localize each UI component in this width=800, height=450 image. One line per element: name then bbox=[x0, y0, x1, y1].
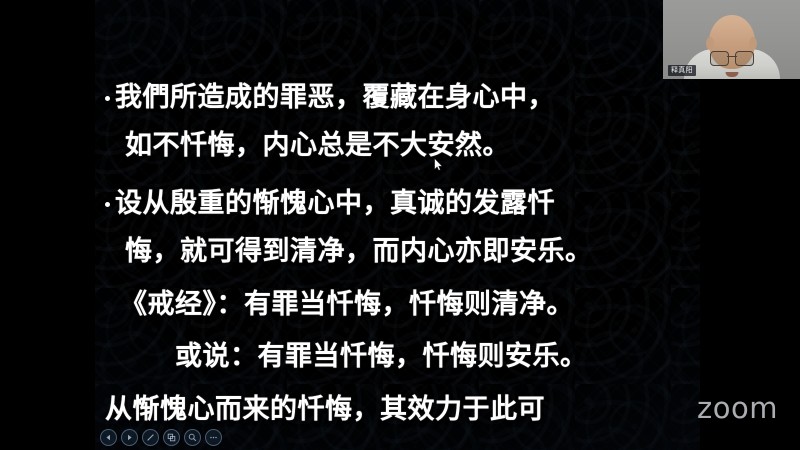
glasses-lens-right bbox=[735, 51, 754, 66]
slide-overview-button[interactable] bbox=[163, 429, 180, 446]
participant-video-thumbnail[interactable]: 释真阳 bbox=[663, 0, 800, 79]
slide-closing-line: 从惭愧心而来的忏悔，其效力于此可 bbox=[105, 396, 545, 423]
zoom-magnifier-button[interactable] bbox=[184, 429, 201, 446]
slide-quote-line-1: 《戒经》：有罪当忏悔，忏悔则清净。 bbox=[120, 291, 574, 318]
participant-name-label: 释真阳 bbox=[668, 65, 696, 76]
triangle-right-icon bbox=[126, 434, 133, 441]
more-options-button[interactable] bbox=[205, 429, 222, 446]
slide-line-2: 如不忏悔，内心总是不大安然。 bbox=[125, 132, 510, 159]
previous-slide-button[interactable] bbox=[100, 429, 117, 446]
glasses-icon bbox=[710, 51, 754, 64]
grid-icon bbox=[167, 433, 176, 442]
slide-line-1: 我們所造成的罪恶，覆藏在身心中， bbox=[115, 84, 555, 111]
bullet-marker-1 bbox=[105, 96, 110, 101]
slide-line-4: 悔，就可得到清净，而内心亦即安乐。 bbox=[125, 238, 593, 265]
presentation-slide[interactable]: 我們所造成的罪恶，覆藏在身心中， 如不忏悔，内心总是不大安然。 设从殷重的惭愧心… bbox=[95, 0, 700, 450]
mouse-cursor bbox=[434, 158, 443, 171]
slide-line-3: 设从殷重的惭愧心中，真诚的发露忏 bbox=[115, 190, 555, 217]
webcam-ear-left bbox=[706, 37, 714, 50]
pen-icon bbox=[146, 433, 155, 442]
zoom-watermark: zoom bbox=[697, 394, 778, 423]
webcam-head bbox=[709, 15, 755, 69]
glasses-lens-left bbox=[710, 51, 729, 66]
slide-quote-line-2: 或说：有罪当忏悔，忏悔则安乐。 bbox=[175, 343, 588, 370]
webcam-ear-right bbox=[749, 37, 757, 50]
ellipsis-icon bbox=[209, 433, 218, 442]
next-slide-button[interactable] bbox=[121, 429, 138, 446]
bullet-marker-2 bbox=[105, 202, 110, 207]
pen-annotation-button[interactable] bbox=[142, 429, 159, 446]
magnifier-icon bbox=[188, 433, 197, 442]
slideshow-toolbar[interactable] bbox=[100, 429, 222, 446]
zoom-shared-screen: 我們所造成的罪恶，覆藏在身心中， 如不忏悔，内心总是不大安然。 设从殷重的惭愧心… bbox=[0, 0, 800, 450]
triangle-left-icon bbox=[105, 434, 112, 441]
slide-text-body: 我們所造成的罪恶，覆藏在身心中， 如不忏悔，内心总是不大安然。 设从殷重的惭愧心… bbox=[95, 0, 700, 450]
